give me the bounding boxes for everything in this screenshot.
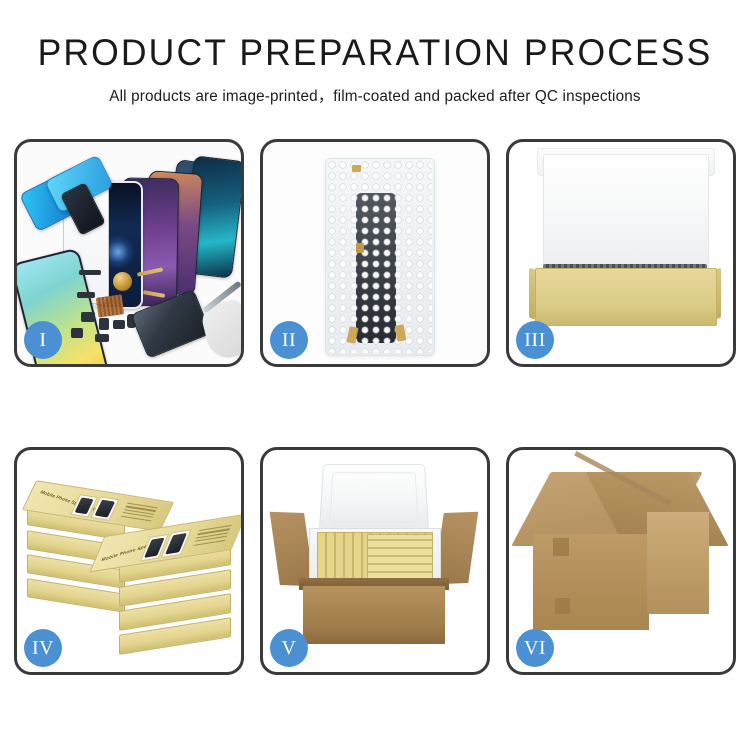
page-subtitle: All products are image-printed，film-coat… bbox=[0, 84, 750, 106]
carton-side-face bbox=[647, 512, 709, 614]
carton-tape-upper bbox=[553, 538, 569, 556]
small-part-6 bbox=[77, 292, 95, 298]
chip-board-part bbox=[96, 294, 125, 317]
page-header: PRODUCT PREPARATION PROCESS All products… bbox=[0, 0, 750, 106]
step-panel-5[interactable]: V bbox=[260, 447, 490, 675]
step-panel-3[interactable]: III bbox=[506, 139, 736, 367]
inner-boxes-row-2 bbox=[367, 534, 433, 580]
box-lid-rear-textlines bbox=[120, 503, 158, 523]
carton-front-face bbox=[533, 534, 649, 630]
small-part-4 bbox=[113, 320, 125, 329]
carton-tape-lower bbox=[555, 598, 570, 614]
step-badge-5: V bbox=[270, 629, 308, 667]
step-badge-6: VI bbox=[516, 629, 554, 667]
bubble-texture bbox=[328, 161, 432, 353]
box-lid-front-textlines bbox=[192, 525, 232, 548]
step-panel-2[interactable]: II bbox=[260, 139, 490, 367]
process-grid: I II III bbox=[14, 139, 736, 675]
step-panel-1[interactable]: I bbox=[14, 139, 244, 367]
small-part-8 bbox=[95, 334, 109, 342]
bag-tape-mid bbox=[356, 243, 364, 253]
foam-lid bbox=[543, 154, 709, 272]
foam-cover-open bbox=[319, 464, 429, 533]
small-part-2 bbox=[81, 312, 95, 322]
small-part-7 bbox=[71, 328, 83, 338]
carton-flap-left bbox=[270, 512, 315, 586]
gold-coil-part bbox=[113, 272, 132, 291]
inner-yellow-box bbox=[535, 268, 717, 326]
page-title: PRODUCT PREPARATION PROCESS bbox=[15, 34, 735, 73]
step-panel-6[interactable]: VI bbox=[506, 447, 736, 675]
small-part-1 bbox=[79, 270, 101, 275]
step-badge-2: II bbox=[270, 321, 308, 359]
step-badge-3: III bbox=[516, 321, 554, 359]
bag-tape-top bbox=[352, 165, 361, 172]
step-badge-4: IV bbox=[24, 629, 62, 667]
bubble-wrap-bag bbox=[325, 158, 435, 356]
step-badge-1: I bbox=[24, 321, 62, 359]
step-panel-4[interactable]: Mobile Phone Spare Parts Mobile Phone Sp… bbox=[14, 447, 244, 675]
shipping-carton-open bbox=[303, 586, 445, 644]
small-part-3 bbox=[99, 318, 109, 330]
